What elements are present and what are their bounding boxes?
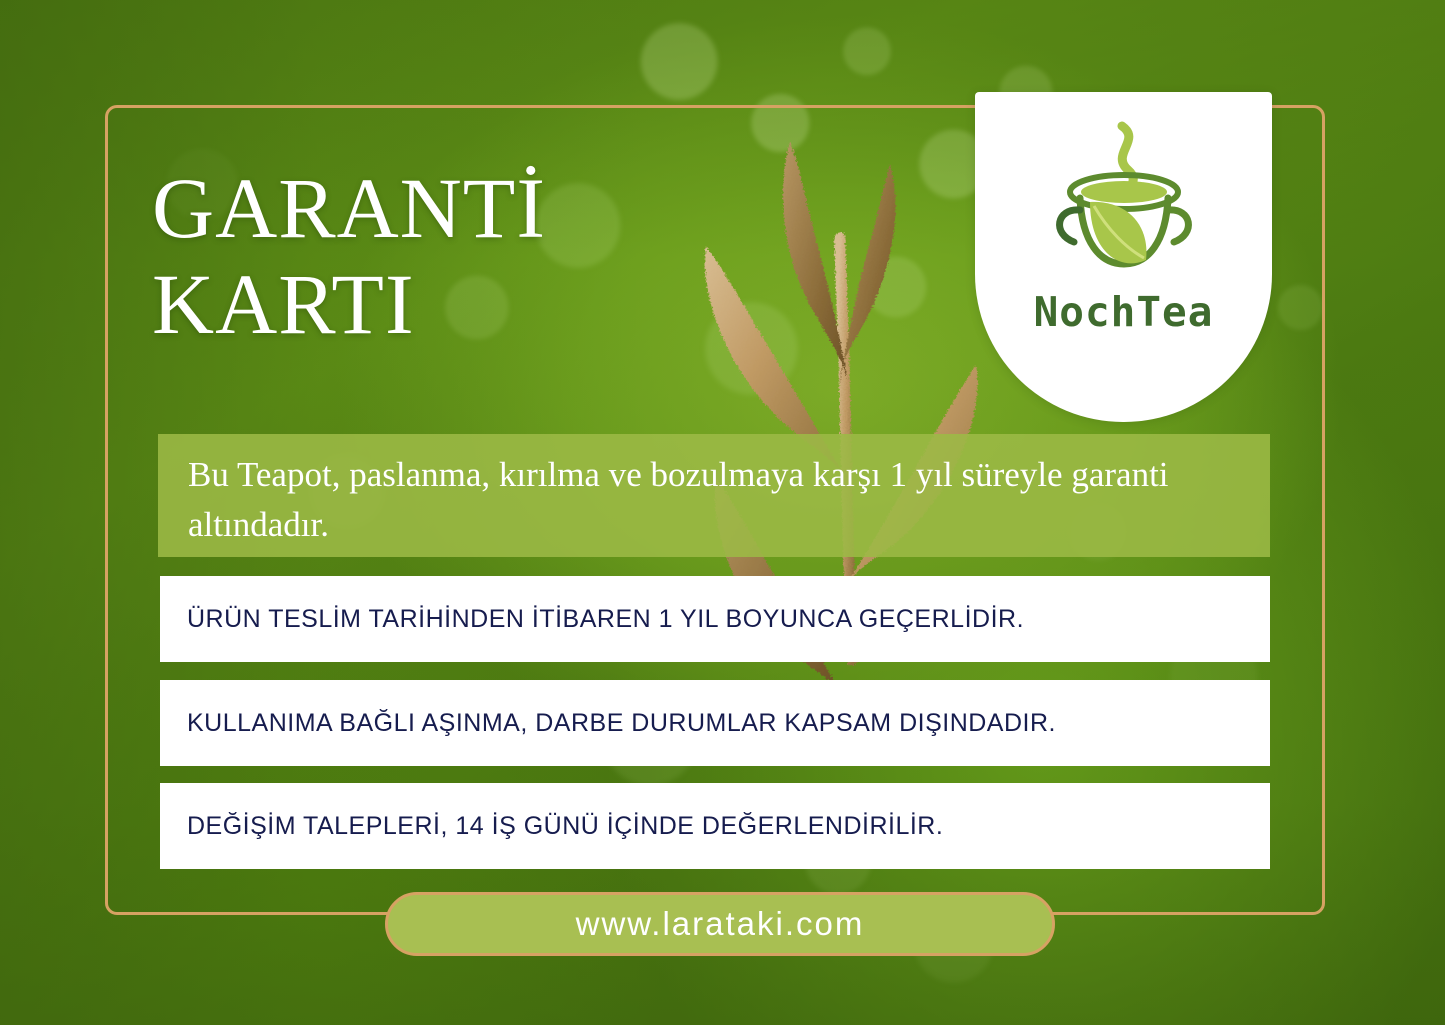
brand-logo: NochTea [975,92,1272,422]
clause-row: KULLANIMA BAĞLI AŞINMA, DARBE DURUMLAR K… [160,680,1270,766]
website-pill[interactable]: www.larataki.com [385,892,1055,956]
clause-text: KULLANIMA BAĞLI AŞINMA, DARBE DURUMLAR K… [160,709,1056,738]
clause-text: ÜRÜN TESLİM TARİHİNDEN İTİBAREN 1 YIL BO… [160,605,1024,634]
clause-row: DEĞİŞİM TALEPLERİ, 14 İŞ GÜNÜ İÇİNDE DEĞ… [160,783,1270,869]
clause-row: ÜRÜN TESLİM TARİHİNDEN İTİBAREN 1 YIL BO… [160,576,1270,662]
page-title-line-2: KARTI [152,256,772,352]
page-title-line-1: GARANTİ [152,160,772,256]
website-url: www.larataki.com [576,905,865,943]
page-title: GARANTİ KARTI [152,160,772,353]
teacup-leaf-steam-icon [1024,118,1224,288]
warranty-card: GARANTİ KARTI NochTea Bu Teapot, paslanm… [0,0,1445,1025]
warranty-summary-banner: Bu Teapot, paslanma, kırılma ve bozulmay… [158,434,1270,557]
brand-wordmark: NochTea [975,288,1272,336]
warranty-summary-text: Bu Teapot, paslanma, kırılma ve bozulmay… [188,450,1244,549]
clause-text: DEĞİŞİM TALEPLERİ, 14 İŞ GÜNÜ İÇİNDE DEĞ… [160,812,943,841]
